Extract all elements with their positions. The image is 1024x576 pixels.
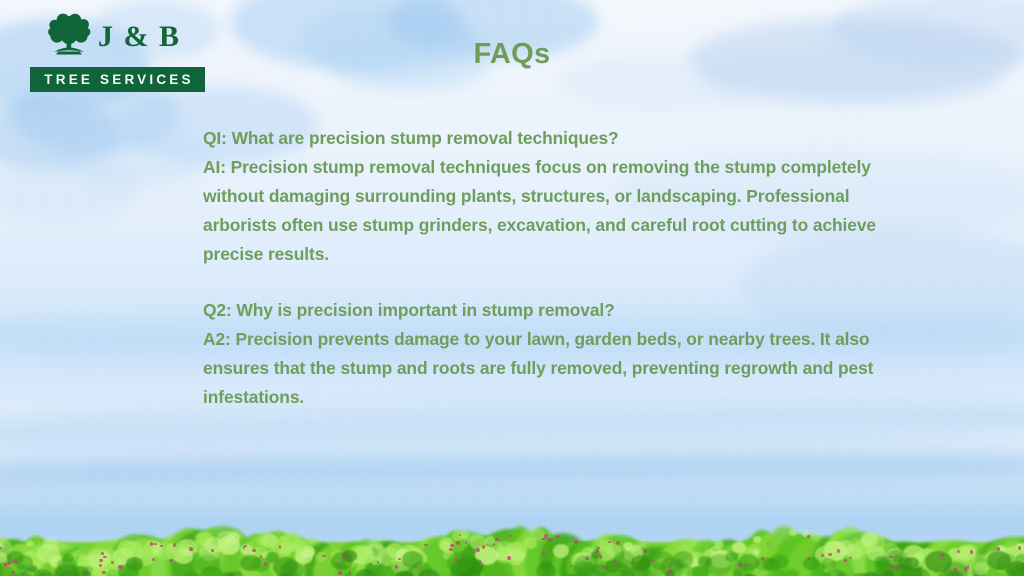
foliage-border bbox=[0, 504, 1024, 576]
foliage-flower bbox=[544, 534, 548, 538]
foliage-flower bbox=[173, 543, 176, 546]
foliage-flower bbox=[964, 567, 968, 571]
foliage-shadow bbox=[874, 556, 890, 569]
foliage-shadow bbox=[394, 571, 415, 576]
foliage-flower bbox=[821, 554, 824, 557]
foliage-highlight bbox=[131, 538, 154, 557]
faq-answer-line: AI: Precision stump removal techniques f… bbox=[203, 153, 975, 182]
foliage-flower bbox=[541, 538, 545, 540]
foliage-flower bbox=[101, 552, 105, 555]
foliage-flower bbox=[807, 535, 810, 537]
foliage-flower bbox=[99, 559, 103, 563]
foliage-flower bbox=[596, 549, 598, 553]
foliage-flower bbox=[585, 557, 588, 561]
foliage-flower bbox=[597, 547, 599, 550]
foliage-flower bbox=[395, 565, 398, 569]
foliage-shadow bbox=[881, 571, 896, 576]
faq-answer-line: precise results. bbox=[203, 240, 975, 269]
foliage-shadow bbox=[447, 552, 473, 572]
foliage-shadow bbox=[331, 552, 353, 570]
foliage-shadow bbox=[1016, 554, 1024, 562]
foliage-shadow bbox=[201, 566, 223, 576]
foliage-flower bbox=[455, 558, 458, 562]
foliage-flower bbox=[7, 561, 11, 565]
foliage-flower bbox=[189, 547, 192, 551]
foliage-flower bbox=[1018, 546, 1021, 550]
foliage-shadow bbox=[540, 560, 552, 570]
faq-answer-line: infestations. bbox=[203, 383, 975, 412]
foliage-flower bbox=[738, 563, 742, 567]
faq-question: Q2: Why is precision important in stump … bbox=[203, 296, 975, 325]
foliage-flower bbox=[337, 564, 340, 566]
foliage-flower bbox=[338, 571, 342, 575]
foliage-shadow bbox=[660, 557, 686, 576]
faq-content: QI: What are precision stump removal tec… bbox=[203, 124, 975, 412]
foliage-shadow bbox=[837, 572, 848, 576]
foliage-flower bbox=[644, 549, 647, 553]
foliage-flower bbox=[118, 565, 122, 569]
foliage-flower bbox=[828, 553, 832, 556]
foliage-shadow bbox=[83, 566, 93, 574]
foliage-shadow bbox=[617, 569, 634, 576]
faq-item: QI: What are precision stump removal tec… bbox=[203, 124, 975, 268]
foliage-highlight bbox=[623, 542, 633, 551]
faq-question: QI: What are precision stump removal tec… bbox=[203, 124, 975, 153]
foliage-shadow bbox=[766, 569, 786, 576]
foliage-flower bbox=[608, 541, 610, 543]
foliage-shadow bbox=[733, 570, 742, 576]
foliage-shadow bbox=[15, 572, 32, 576]
foliage-flower bbox=[476, 548, 479, 552]
faq-answer-line: A2: Precision prevents damage to your la… bbox=[203, 325, 975, 354]
foliage-flower bbox=[102, 571, 106, 574]
foliage-flower bbox=[509, 535, 512, 537]
foliage-highlight bbox=[227, 532, 240, 543]
faq-item: Q2: Why is precision important in stump … bbox=[203, 296, 975, 412]
faq-slide: J & B TREE SERVICES FAQs QI: What are pr… bbox=[0, 0, 1024, 576]
foliage-flower bbox=[542, 552, 545, 555]
faq-answer-line: without damaging surrounding plants, str… bbox=[203, 182, 975, 211]
foliage-flower bbox=[547, 538, 551, 542]
foliage-flower bbox=[344, 554, 348, 557]
foliage-flower bbox=[13, 559, 16, 563]
foliage-flower bbox=[322, 555, 326, 557]
foliage-highlight bbox=[824, 541, 838, 553]
faq-answer-line: ensures that the stump and roots are ful… bbox=[203, 354, 975, 383]
foliage-shadow bbox=[786, 569, 799, 576]
foliage-flower bbox=[849, 557, 852, 559]
foliage-flower bbox=[970, 550, 973, 554]
foliage-flower bbox=[86, 571, 88, 574]
foliage-flower bbox=[954, 568, 957, 572]
foliage-shadow bbox=[229, 571, 242, 576]
foliage-flower bbox=[169, 559, 173, 562]
foliage-flower bbox=[456, 541, 460, 545]
foliage-highlight bbox=[957, 545, 976, 561]
foliage-flower bbox=[996, 547, 1000, 551]
foliage-flower bbox=[668, 569, 672, 573]
foliage-highlight bbox=[37, 544, 59, 563]
faq-answer-line: arborists often use stump grinders, exca… bbox=[203, 211, 975, 240]
foliage-flower bbox=[507, 556, 510, 560]
foliage-highlight bbox=[315, 552, 327, 562]
foliage-flower bbox=[482, 545, 485, 549]
foliage-flower bbox=[153, 543, 157, 545]
foliage-highlight bbox=[753, 536, 761, 543]
foliage-shadow bbox=[705, 554, 732, 576]
foliage-highlight bbox=[117, 555, 126, 563]
foliage-shadow bbox=[893, 554, 904, 563]
foliage-flower bbox=[211, 549, 215, 552]
foliage-flower bbox=[616, 541, 620, 545]
page-title: FAQs bbox=[0, 38, 1024, 71]
foliage-flower bbox=[99, 564, 102, 567]
foliage-flower bbox=[891, 565, 893, 568]
foliage-flower bbox=[252, 549, 255, 553]
foliage-highlight bbox=[598, 539, 613, 551]
